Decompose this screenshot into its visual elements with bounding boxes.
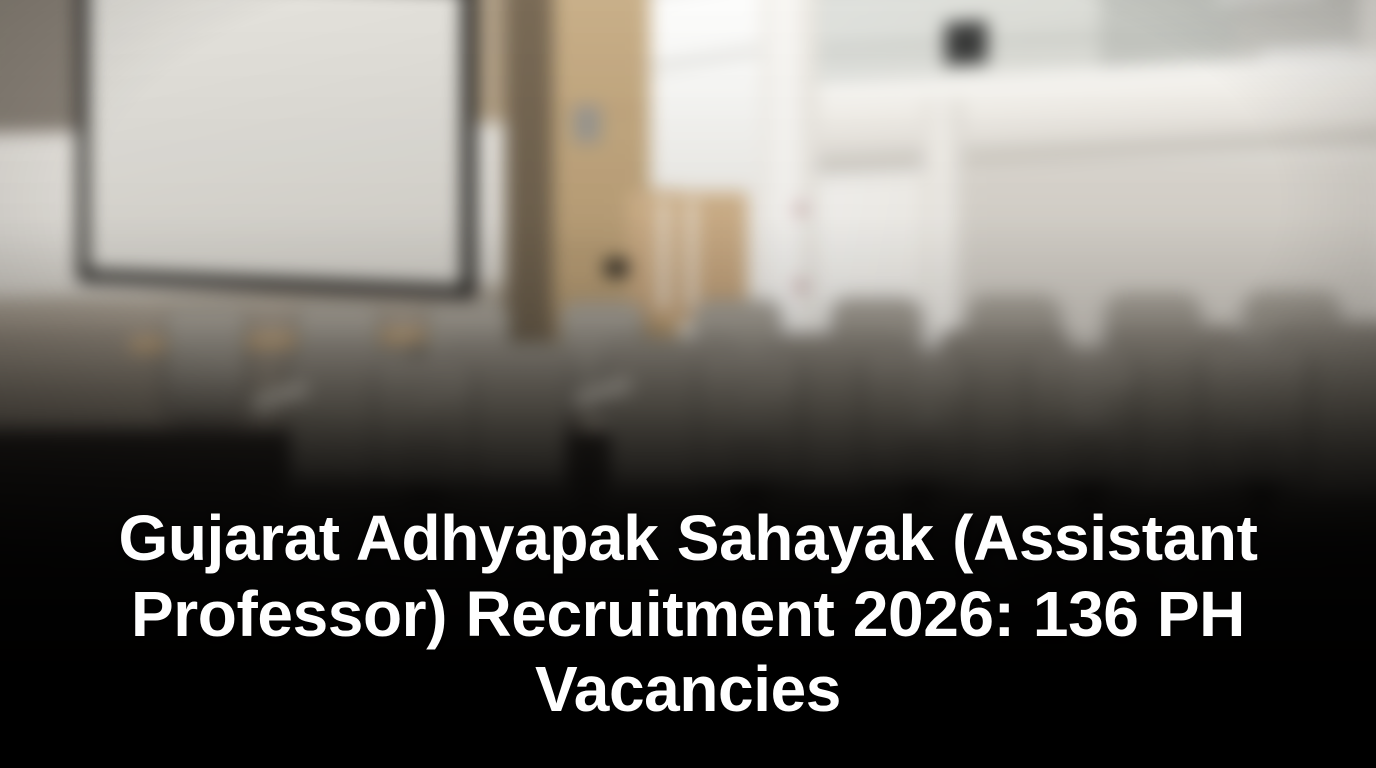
chair <box>167 308 245 418</box>
hero-banner: Gujarat Adhyapak Sahayak (Assistant Prof… <box>0 0 1376 768</box>
door-light-strip <box>660 200 667 310</box>
chair <box>702 352 798 484</box>
door-light-strip <box>688 200 695 312</box>
chair <box>1205 346 1307 484</box>
chair <box>865 350 963 484</box>
wall-control-box <box>573 105 601 143</box>
page-title: Gujarat Adhyapak Sahayak (Assistant Prof… <box>52 501 1324 728</box>
projection-screen <box>88 0 462 286</box>
headline-container: Gujarat Adhyapak Sahayak (Assistant Prof… <box>0 501 1376 728</box>
wood-wall-recess <box>505 0 553 380</box>
chair <box>1032 348 1132 484</box>
balcony-monitor <box>945 21 987 65</box>
column-red-marker <box>796 205 805 214</box>
column-red-marker <box>796 282 805 291</box>
chair <box>378 358 470 486</box>
